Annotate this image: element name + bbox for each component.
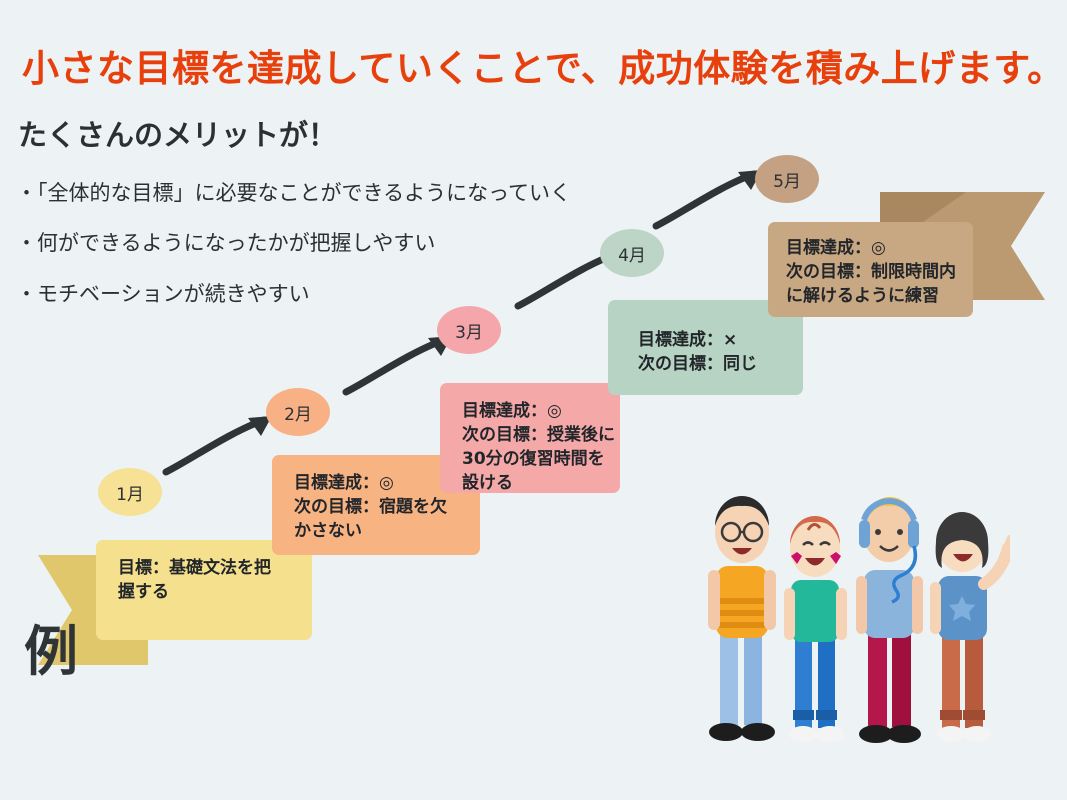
month-pill-2[interactable]: 2月 (266, 388, 330, 436)
step-line: 次の目標：宿題を欠 (294, 495, 464, 519)
step-line: 次の目標：制限時間内 (786, 260, 957, 284)
month-pill-3[interactable]: 3月 (437, 306, 501, 354)
step-banner-5[interactable]: 目標達成：◎ 次の目標：制限時間内 に解けるように練習 (768, 222, 973, 317)
step-line: 目標達成：◎ (462, 399, 604, 423)
month-pill-4[interactable]: 4月 (600, 229, 664, 277)
student-2 (784, 516, 847, 742)
step-line: 設ける (462, 471, 604, 495)
step-line: 目標達成：◎ (786, 236, 957, 260)
four-students-illustration (690, 470, 1010, 770)
student-4 (930, 512, 1010, 742)
step-line: 目標達成：◎ (294, 471, 464, 495)
step-line: 30分の復習時間を (462, 447, 604, 471)
example-label: 例 (24, 625, 78, 679)
step-line: 目標達成：× (638, 328, 787, 352)
month-pill-5[interactable]: 5月 (755, 155, 819, 203)
step-line: に解けるように練習 (786, 284, 957, 308)
step-line: 握する (118, 580, 296, 604)
step-line: 次の目標：授業後に (462, 423, 604, 447)
step-line: 目標：基礎文法を把 (118, 556, 296, 580)
step-banner-3[interactable]: 目標達成：◎ 次の目標：授業後に 30分の復習時間を 設ける (440, 383, 620, 493)
slide-canvas: 小さな目標を達成していくことで、成功体験を積み上げます。 たくさんのメリットが！… (0, 0, 1067, 800)
student-1 (708, 496, 776, 741)
month-pill-1[interactable]: 1月 (98, 468, 162, 516)
step-banner-1[interactable]: 目標：基礎文法を把 握する (96, 540, 312, 640)
student-3 (856, 497, 923, 743)
step-line: かさない (294, 519, 464, 543)
step-line: 次の目標：同じ (638, 352, 787, 376)
